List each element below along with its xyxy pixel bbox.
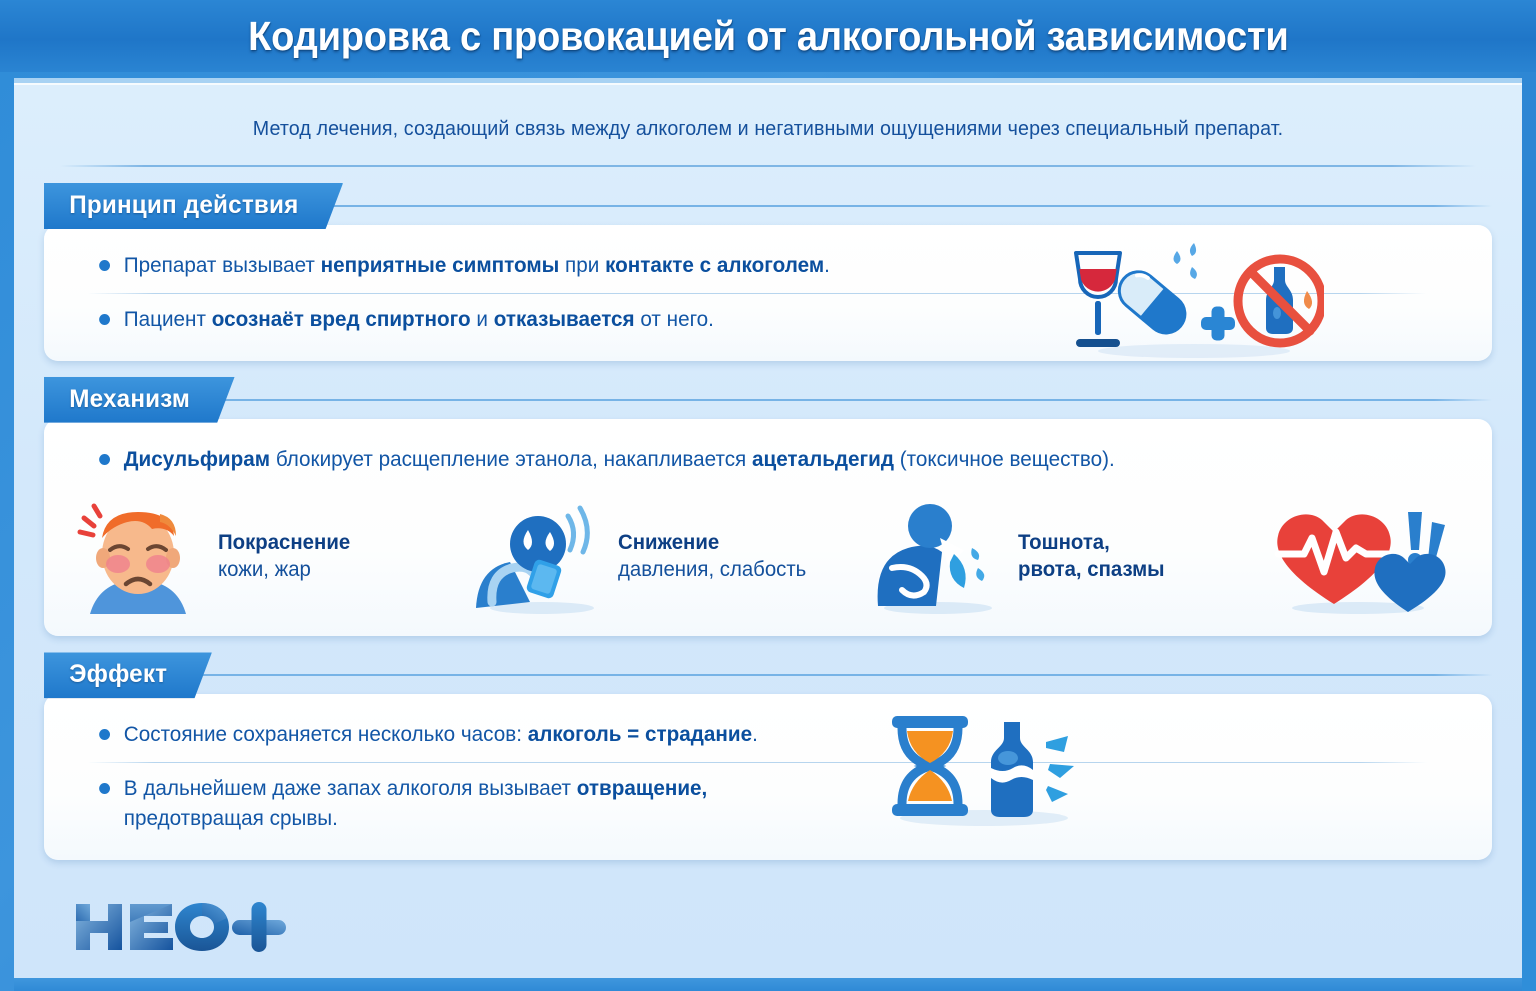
symptom-line-1: Снижение xyxy=(618,529,806,556)
bullet-list-effect: Состояние сохраняется несколько часов: а… xyxy=(44,694,1492,859)
list-item-text: Дисульфирам блокирует расщепление этанол… xyxy=(124,445,1115,475)
bullet-dot-icon xyxy=(99,729,110,740)
vomiting-person-icon xyxy=(868,496,1008,616)
page-title: Кодировка с провокацией от алкогольной з… xyxy=(248,13,1288,60)
bullet-dot-icon xyxy=(99,783,110,794)
flushed-face-icon xyxy=(68,496,208,616)
symptom-line-1: Тошнота, xyxy=(1018,529,1165,556)
section-card-mechanism: Дисульфирам блокирует расщепление этанол… xyxy=(44,419,1492,637)
symptom-line-2: кожи, жар xyxy=(218,556,350,583)
list-item-text: Препарат вызывает неприятные симптомы пр… xyxy=(124,251,830,281)
list-item-text: Пациент осознаёт вред спиртного и отказы… xyxy=(124,305,714,335)
symptom-strip: Покраснение кожи, жар xyxy=(44,490,1492,636)
heat-lines-icon xyxy=(80,506,100,535)
list-item: Состояние сохраняется несколько часов: а… xyxy=(44,708,1470,762)
bullet-dot-icon xyxy=(99,454,110,465)
content-panel: Метод лечения, создающий связь между алк… xyxy=(14,78,1522,978)
symptom-line-2: рвота, спазмы xyxy=(1018,556,1165,583)
symptom-dizzy: Снижение давления, слабость xyxy=(468,496,868,616)
infographic-page: Кодировка с провокацией от алкогольной з… xyxy=(0,0,1536,991)
symptom-label: Снижение давления, слабость xyxy=(618,529,806,584)
brand-logo xyxy=(72,902,302,952)
intro-divider xyxy=(60,165,1476,167)
section-tab-mechanism[interactable]: Механизм xyxy=(44,377,235,423)
symptom-heart xyxy=(1268,496,1468,616)
symptom-label: Тошнота, рвота, спазмы xyxy=(1018,529,1165,584)
list-item: Дисульфирам блокирует расщепление этанол… xyxy=(44,433,1470,487)
list-item: В дальнейшем даже запах алкоголя вызывае… xyxy=(44,762,1470,846)
bullet-dot-icon xyxy=(99,260,110,271)
section-card-principle: Препарат вызывает неприятные симптомы пр… xyxy=(44,225,1492,361)
splash-icon xyxy=(971,548,984,581)
section-principle: Принцип действия Препарат вызывает непри… xyxy=(44,183,1492,361)
symptom-vomiting: Тошнота, рвота, спазмы xyxy=(868,496,1268,616)
bullet-dot-icon xyxy=(99,314,110,325)
motion-lines-icon xyxy=(568,508,587,552)
list-item: Пациент осознаёт вред спиртного и отказы… xyxy=(44,293,1470,347)
section-mechanism: Механизм Дисульфирам блокирует расщеплен… xyxy=(44,377,1492,637)
section-card-effect: Состояние сохраняется несколько часов: а… xyxy=(44,694,1492,859)
tab-rule xyxy=(44,399,1492,401)
dizzy-person-icon xyxy=(468,496,608,616)
list-item-text: В дальнейшем даже запах алкоголя вызывае… xyxy=(124,774,708,834)
page-header: Кодировка с провокацией от алкогольной з… xyxy=(0,0,1536,72)
bullet-list-principle: Препарат вызывает неприятные симптомы пр… xyxy=(44,225,1492,361)
intro-text: Метод лечения, создающий связь между алк… xyxy=(44,117,1492,141)
list-item-text: Состояние сохраняется несколько часов: а… xyxy=(124,720,758,750)
symptom-label: Покраснение кожи, жар xyxy=(218,529,350,584)
symptom-line-2: давления, слабость xyxy=(618,556,806,583)
symptom-flushed: Покраснение кожи, жар xyxy=(68,496,468,616)
section-tab-principle[interactable]: Принцип действия xyxy=(44,183,343,229)
list-item: Препарат вызывает неприятные симптомы пр… xyxy=(44,239,1470,293)
symptom-line-1: Покраснение xyxy=(218,529,350,556)
bullet-list-mechanism: Дисульфирам блокирует расщепление этанол… xyxy=(44,419,1492,491)
section-effect: Эффект Состояние сохраняется несколько ч… xyxy=(44,652,1492,859)
footer-strip xyxy=(14,978,1522,991)
section-tab-effect[interactable]: Эффект xyxy=(44,652,212,698)
neo-plus-logo-icon xyxy=(72,900,302,954)
tab-rule xyxy=(44,674,1492,676)
heartbeat-alert-icon xyxy=(1268,496,1458,616)
